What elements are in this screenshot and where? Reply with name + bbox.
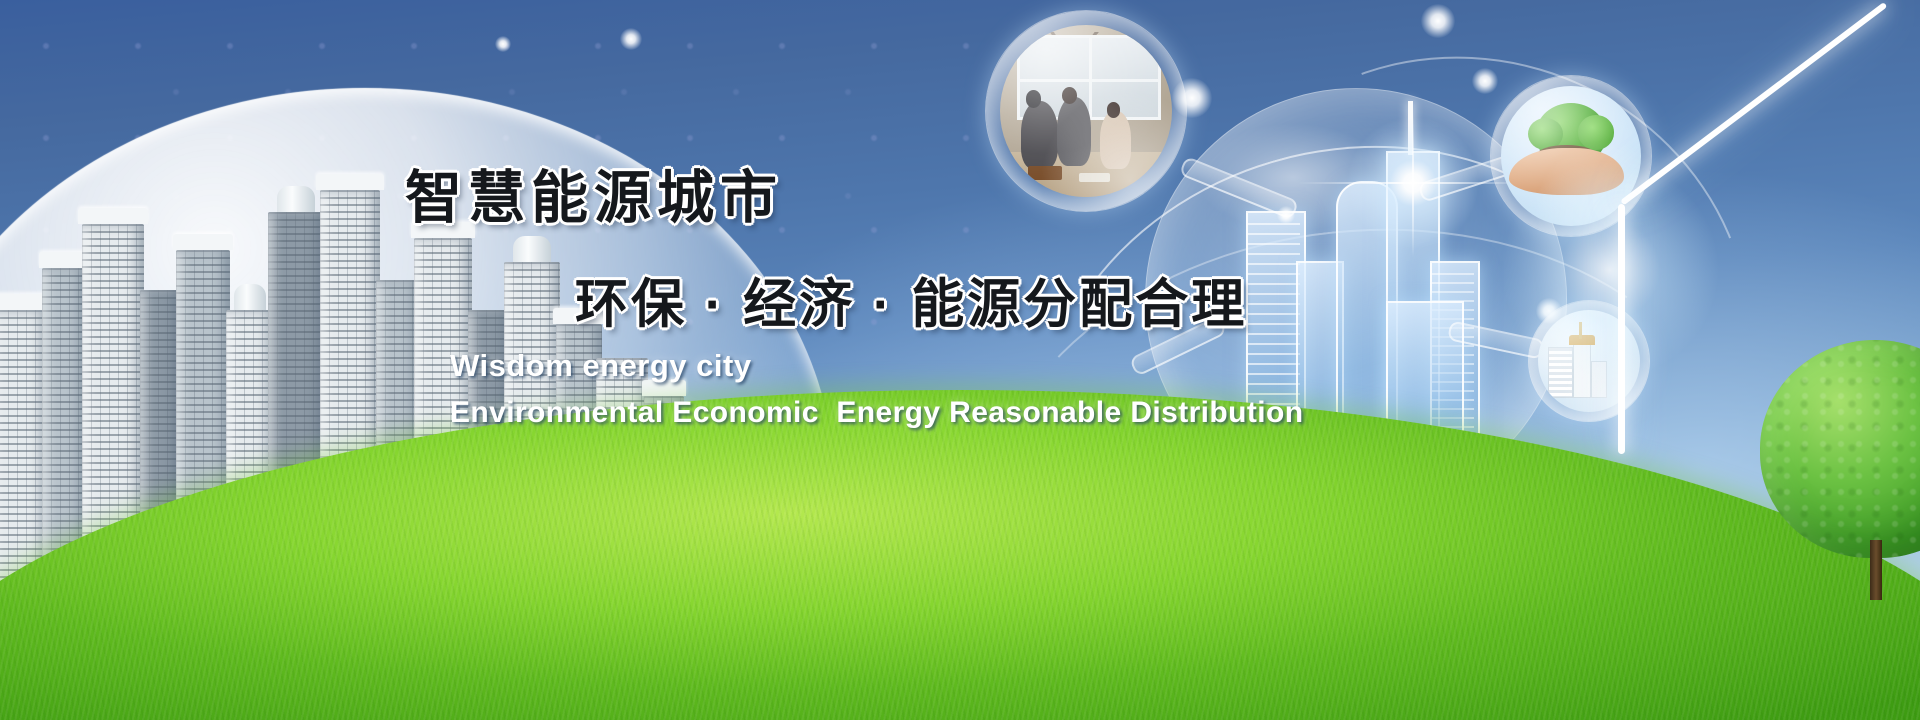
wooden-box	[1028, 166, 1062, 180]
building-cap	[411, 222, 476, 238]
family-bubble-photo	[1000, 25, 1172, 197]
building-cap	[173, 234, 233, 250]
building-cylinder-cap	[513, 236, 551, 262]
sparkle-light	[1172, 78, 1212, 118]
sparkle-light	[495, 36, 511, 52]
sparkle-light	[1421, 4, 1455, 38]
sparkle-light	[620, 28, 642, 50]
child-head	[1107, 102, 1121, 117]
person-figure	[1021, 101, 1059, 170]
building-cap	[642, 380, 687, 396]
person-head	[1026, 90, 1041, 107]
building-cylinder-cap	[234, 284, 267, 310]
green-tree	[1760, 340, 1920, 600]
building-cylinder-cap	[277, 186, 315, 212]
book-object	[1079, 173, 1110, 182]
tree-crown	[1760, 340, 1920, 558]
person-figure	[1057, 97, 1091, 166]
house-glow	[1500, 160, 1720, 380]
house-wall-line	[1618, 204, 1625, 454]
building-cap	[553, 308, 605, 324]
family-bubble	[985, 10, 1187, 212]
building-cap	[78, 208, 147, 224]
house-roof-line	[1620, 2, 1887, 205]
smart-energy-city-banner: 智慧能源城市 环保 · 经济 · 能源分配合理 Wisdom energy ci…	[0, 0, 1920, 720]
tree-trunk	[1870, 540, 1882, 600]
tree-leaf-texture	[1760, 340, 1920, 558]
sparkle-light	[1277, 206, 1295, 224]
building-cap	[316, 174, 383, 190]
sparkle-light	[1472, 68, 1498, 94]
child-figure	[1100, 111, 1131, 169]
